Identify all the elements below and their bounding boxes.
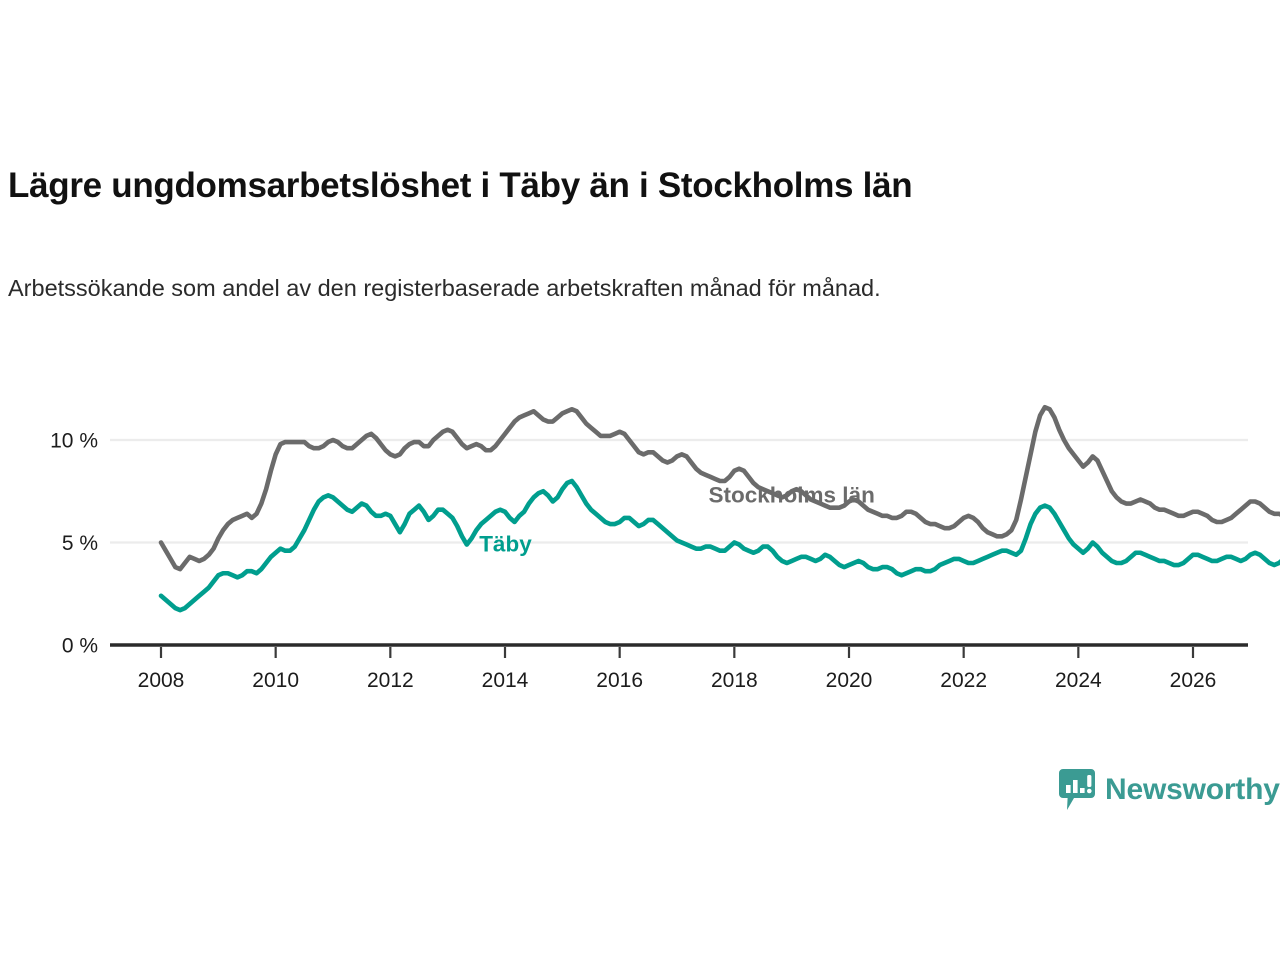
x-axis-tick-label: 2022 xyxy=(940,669,987,692)
x-axis-tick-label: 2016 xyxy=(596,669,643,692)
page-subtitle: Arbetssökande som andel av den registerb… xyxy=(8,272,1188,305)
y-axis-tick-label: 0 % xyxy=(62,635,98,658)
y-axis-tick-label: 5 % xyxy=(62,532,98,555)
x-axis-tick-label: 2008 xyxy=(138,669,185,692)
chart-svg: 0 %5 %10 %200820102012201420162018202020… xyxy=(0,400,1280,700)
y-axis-tick-label: 10 % xyxy=(50,430,98,453)
newsworthy-bar-chart-bubble-icon xyxy=(1058,768,1096,812)
line-chart: 0 %5 %10 %200820102012201420162018202020… xyxy=(0,400,1280,700)
x-axis-tick-label: 2018 xyxy=(711,669,758,692)
x-axis-tick-label: 2010 xyxy=(252,669,299,692)
x-axis-tick-label: 2014 xyxy=(482,669,529,692)
newsworthy-logo: Newsworthy xyxy=(1058,768,1280,812)
x-axis-tick-label: 2012 xyxy=(367,669,414,692)
newsworthy-logo-text: Newsworthy xyxy=(1105,773,1280,807)
x-axis-tick-label: 2026 xyxy=(1170,669,1217,692)
chart-page: Lägre ungdomsarbetslöshet i Täby än i St… xyxy=(0,0,1280,960)
series-label-stockholms-l-n: Stockholms län xyxy=(709,483,875,508)
x-axis-tick-label: 2020 xyxy=(826,669,873,692)
x-axis-tick-label: 2024 xyxy=(1055,669,1102,692)
series-label-t-by: Täby xyxy=(479,532,532,557)
page-title: Lägre ungdomsarbetslöshet i Täby än i St… xyxy=(8,166,1258,205)
